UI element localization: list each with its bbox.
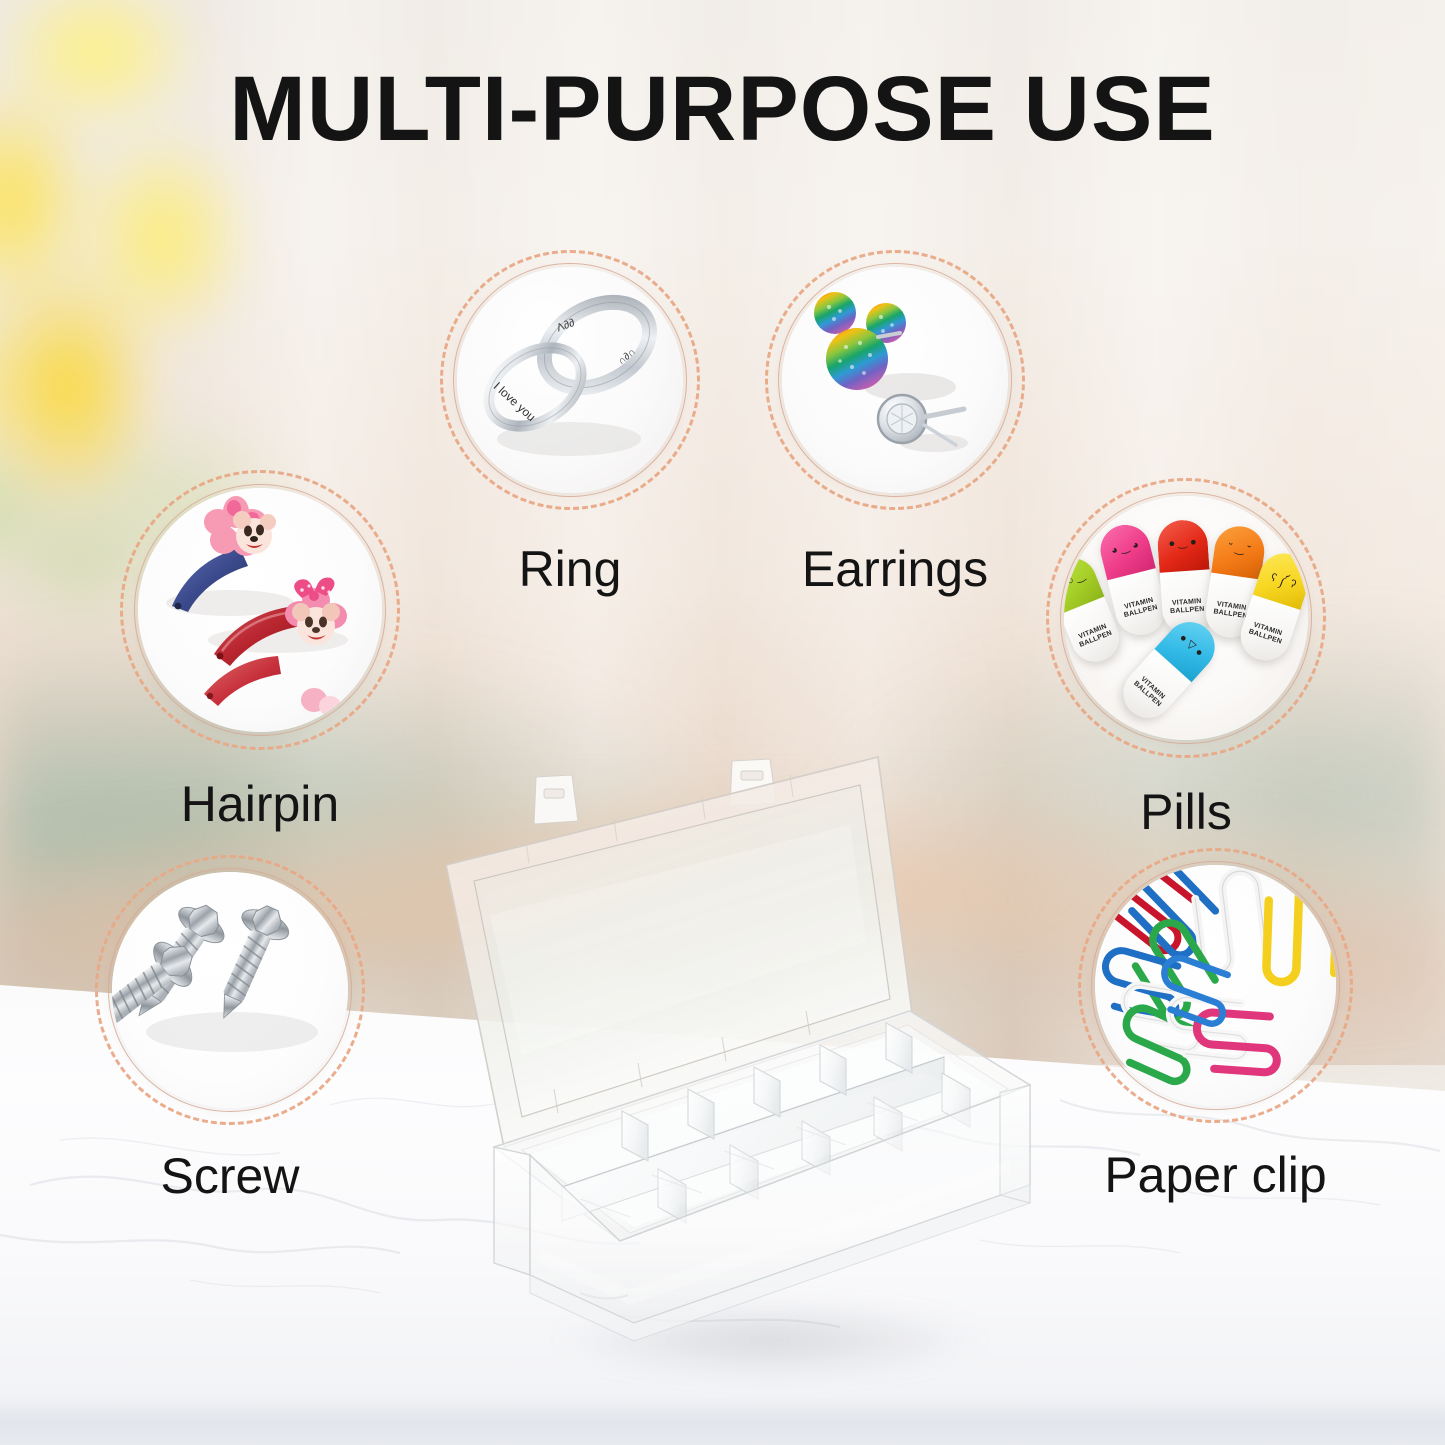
feature-label-earrings: Earrings xyxy=(765,540,1025,598)
page-title: MULTI-PURPOSE USE xyxy=(0,63,1445,155)
hairpin-photo-disc xyxy=(138,488,382,732)
table-front-edge xyxy=(0,1395,1445,1445)
earrings-icon xyxy=(782,267,1008,493)
pills-photo-disc: ^ ○ ‿ VITAMINBALLPEN ◕ ‿ ◕ VITAMINBALLPE… xyxy=(1064,496,1308,740)
feature-label-screw: Screw xyxy=(95,1147,365,1205)
feature-screw[interactable]: Screw xyxy=(95,855,365,1255)
feature-hairpin[interactable]: Hairpin xyxy=(120,470,400,870)
feature-label-paper-clip: Paper clip xyxy=(1078,1146,1353,1204)
paperclip-photo-disc xyxy=(1095,865,1336,1106)
screw-icon xyxy=(112,872,348,1108)
ring-photo-disc: Λ∂∂ ∩∂∩ I love you xyxy=(457,267,683,493)
feature-label-pills: Pills xyxy=(1046,783,1326,841)
hairpin-icon xyxy=(138,488,382,732)
organizer-box-illustration xyxy=(430,755,1050,1365)
feature-ring[interactable]: Λ∂∂ ∩∂∩ I love you Ring xyxy=(440,250,700,650)
ring-icon: Λ∂∂ ∩∂∩ I love you xyxy=(457,267,683,493)
feature-pills[interactable]: ^ ○ ‿ VITAMINBALLPEN ◕ ‿ ◕ VITAMINBALLPE… xyxy=(1046,478,1326,878)
feature-paper-clip[interactable]: Paper clip xyxy=(1078,848,1353,1248)
feature-earrings[interactable]: Earrings xyxy=(765,250,1025,650)
feature-label-ring: Ring xyxy=(440,540,700,598)
storage-box[interactable] xyxy=(430,755,1050,1365)
paperclip-icon xyxy=(1095,865,1336,1106)
feature-label-hairpin: Hairpin xyxy=(120,775,400,833)
screw-photo-disc xyxy=(112,872,348,1108)
earrings-photo-disc xyxy=(782,267,1008,493)
